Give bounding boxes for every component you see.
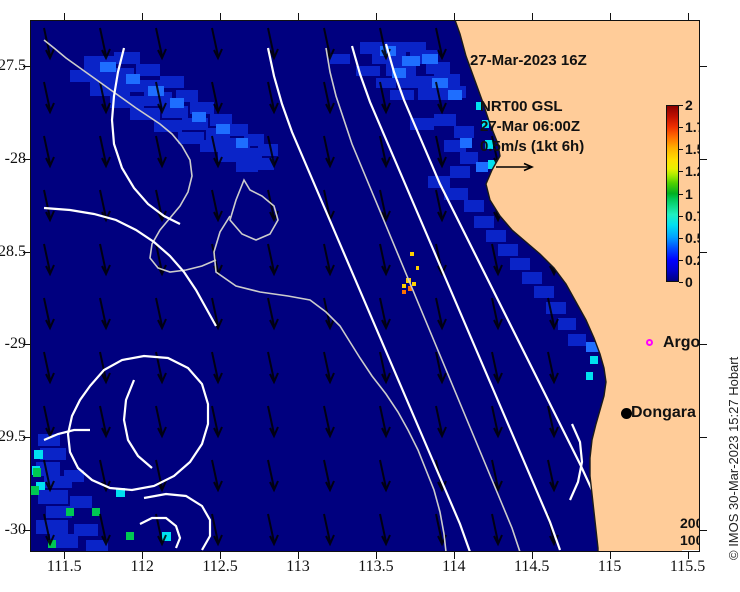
colorbar-tick: [679, 149, 683, 150]
colorbar-tick-label: 0.75: [685, 208, 700, 224]
y-tick-right: [700, 66, 707, 67]
colorbar-tick: [679, 238, 683, 239]
x-tick: [454, 13, 455, 20]
x-tick: [532, 13, 533, 20]
x-tick: [220, 13, 221, 20]
timestamp-label: 27-Mar-2023 16Z: [470, 52, 587, 69]
y-tick-right: [700, 159, 707, 160]
x-tick-label: 113: [286, 558, 309, 576]
colorbar-tick-label: 0.5: [685, 230, 700, 246]
x-tick-label: 115: [598, 558, 621, 576]
argo-marker-icon: [646, 339, 653, 346]
velocity-scale-label: 0.5m/s (1kt 6h): [480, 138, 584, 155]
colorbar-tick: [679, 194, 683, 195]
colorbar-tick-label: 0: [685, 274, 693, 290]
argo-legend-label: Argo: [663, 334, 700, 352]
x-tick-label: 112: [130, 558, 153, 576]
credit-label: © IMOS 30-Mar-2023 15:27 Hobart: [726, 357, 740, 560]
y-tick-label: -28.5: [0, 243, 26, 261]
y-tick-label: -27.5: [0, 57, 26, 75]
colorbar-tick-label: 2: [685, 97, 693, 113]
x-tick: [376, 13, 377, 20]
x-tick-label: 115.5: [670, 558, 705, 576]
y-tick-right: [700, 344, 707, 345]
y-tick-label: -29: [5, 335, 26, 353]
y-tick-right: [700, 530, 707, 531]
x-tick-label: 114.5: [514, 558, 549, 576]
sst-age-raster: [30, 20, 700, 552]
x-tick: [688, 13, 689, 20]
x-tick-label: 114: [442, 558, 465, 576]
velocity-reference-arrow: [496, 162, 538, 172]
colorbar-tick: [679, 216, 683, 217]
y-tick-label: -30: [5, 521, 26, 539]
colorbar-tick: [679, 282, 683, 283]
y-tick-right: [700, 437, 707, 438]
x-tick-label: 112.5: [202, 558, 237, 576]
colorbar-tick-label: 1.25: [685, 163, 700, 179]
colorbar-tick-label: 1.5: [685, 141, 700, 157]
depth-contour-legend: 200m 1000m: [680, 515, 700, 549]
colorbar-tick-label: 1: [685, 186, 693, 202]
depth-200-label: 200m: [680, 515, 700, 532]
colorbar-tick: [679, 260, 683, 261]
product-label: NRT00 GSL: [480, 98, 563, 115]
product-time-label: 27-Mar 06:00Z: [480, 118, 580, 135]
colorbar-tick: [679, 171, 683, 172]
colorbar-tick: [679, 105, 683, 106]
x-tick: [610, 13, 611, 20]
depth-200-line-sample: [682, 550, 700, 552]
city-label: Dongara: [631, 404, 696, 422]
x-tick-label: 113.5: [358, 558, 393, 576]
y-tick-right: [700, 252, 707, 253]
x-tick: [298, 13, 299, 20]
x-tick: [142, 13, 143, 20]
x-tick: [64, 13, 65, 20]
colorbar-tick-label: 1.75: [685, 119, 700, 135]
colorbar-tick-label: 0.25: [685, 252, 700, 268]
colorbar-gradient: [666, 105, 679, 282]
y-tick-label: -29.5: [0, 428, 26, 446]
map-plot-area[interactable]: 27-Mar-2023 16Z NRT00 GSL 27-Mar 06:00Z …: [30, 20, 700, 552]
depth-1000-label: 1000m: [680, 532, 700, 549]
y-tick-label: -28: [5, 150, 26, 168]
colorbar-tick: [679, 127, 683, 128]
x-tick-label: 111.5: [47, 558, 82, 576]
